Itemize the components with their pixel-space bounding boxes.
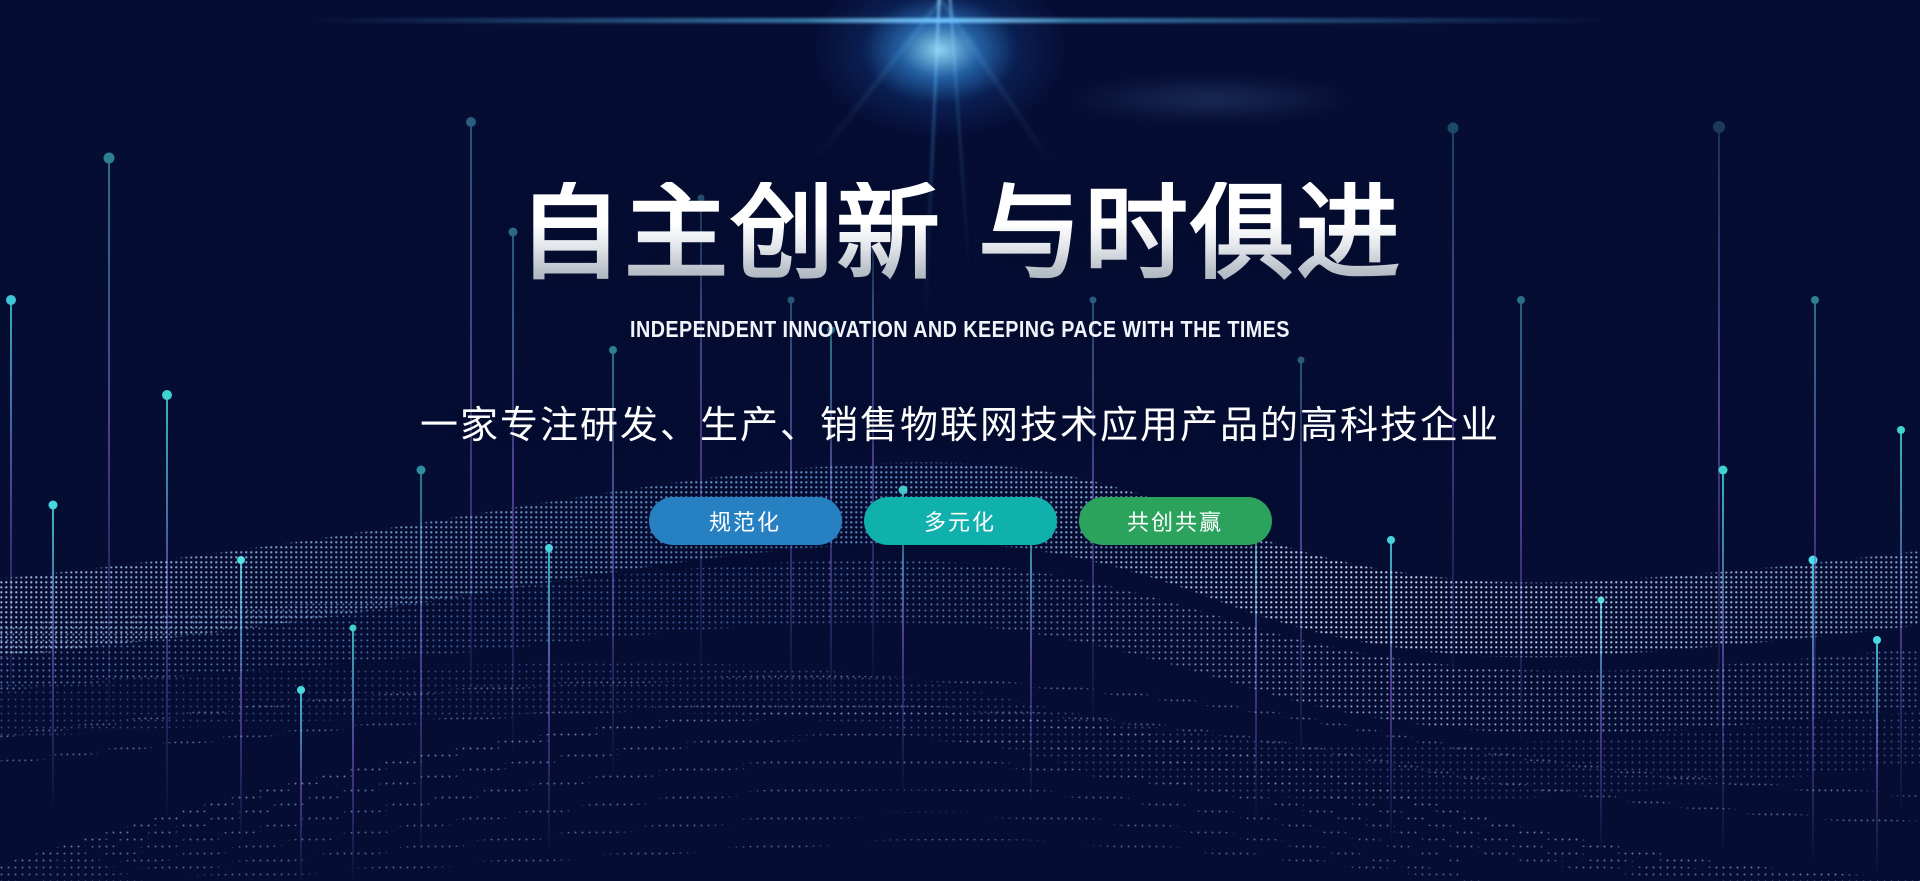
feature-pill-row: 规范化多元化共创共赢 (0, 497, 1920, 545)
feature-pill-label: 共创共赢 (1127, 505, 1223, 537)
title-part-2: 与时俱进 (978, 176, 1402, 292)
page-title: 自主创新与时俱进 (0, 182, 1920, 286)
feature-pill-label: 多元化 (924, 505, 996, 537)
hero-banner: 自主创新与时俱进 INDEPENDENT INNOVATION AND KEEP… (0, 0, 1920, 881)
title-part-1: 自主创新 (518, 176, 942, 292)
feature-pill-3[interactable]: 共创共赢 (1079, 497, 1272, 545)
subtitle-english: INDEPENDENT INNOVATION AND KEEPING PACE … (134, 316, 1785, 343)
feature-pill-1[interactable]: 规范化 (649, 497, 842, 545)
feature-pill-2[interactable]: 多元化 (864, 497, 1057, 545)
feature-pill-label: 规范化 (709, 505, 781, 537)
tagline: 一家专注研发、生产、销售物联网技术应用产品的高科技企业 (0, 394, 1920, 449)
